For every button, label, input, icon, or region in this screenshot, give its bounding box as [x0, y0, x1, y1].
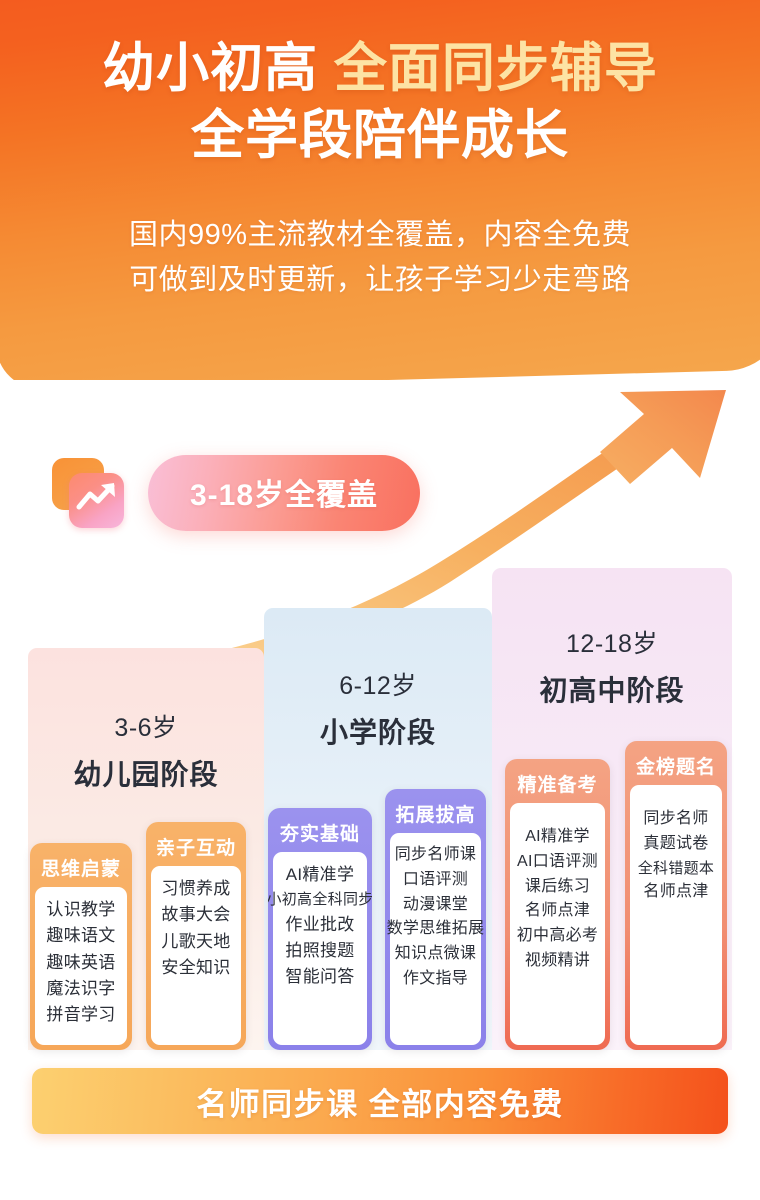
feature-card-5-list: AI精准学 AI口语评测 课后练习 名师点津 初中高必考 视频精讲 [510, 803, 605, 1045]
feature-card-4[interactable]: 拓展拔高 同步名师课 口语评测 动漫课堂 数学思维拓展 知识点微课 作文指导 [385, 789, 486, 1050]
stage-name-1: 幼儿园阶段 [28, 753, 264, 793]
list-item: 智能问答 [285, 964, 354, 990]
feature-card-2-title: 亲子互动 [146, 833, 246, 860]
list-item: 拼音学习 [46, 1002, 115, 1028]
list-item: 作文指导 [403, 967, 468, 992]
list-item: 魔法识字 [46, 976, 115, 1002]
feature-card-3[interactable]: 夯实基础 AI精准学 小初高全科同步 作业批改 拍照搜题 智能问答 [268, 808, 372, 1050]
feature-card-1[interactable]: 思维启蒙 认识教学 趣味语文 趣味英语 魔法识字 拼音学习 [30, 843, 132, 1050]
list-item: 拍照搜题 [285, 938, 354, 964]
footer-cta-banner[interactable]: 名师同步课 全部内容免费 [32, 1068, 728, 1134]
list-item: AI精准学 [525, 825, 590, 850]
promo-infographic: 幼小初高 全面同步辅导 全学段陪伴成长 国内99%主流教材全覆盖，内容全免费 可… [0, 0, 760, 1200]
feature-card-4-list: 同步名师课 口语评测 动漫课堂 数学思维拓展 知识点微课 作文指导 [390, 833, 481, 1045]
list-item: 知识点微课 [395, 942, 477, 967]
stage-age-1: 3-6岁 [28, 708, 264, 744]
feature-card-5-title: 精准备考 [505, 770, 610, 797]
stage-name-3: 初高中阶段 [492, 669, 732, 709]
feature-card-2-list: 习惯养成 故事大会 儿歌天地 安全知识 [151, 866, 241, 1045]
stage-label-2: 6-12岁 小学阶段 [264, 666, 492, 751]
list-item: 作业批改 [285, 912, 354, 938]
stage-age-3: 12-18岁 [492, 624, 732, 660]
feature-card-5[interactable]: 精准备考 AI精准学 AI口语评测 课后练习 名师点津 初中高必考 视频精讲 [505, 759, 610, 1050]
feature-card-4-title: 拓展拔高 [385, 800, 486, 827]
stage-columns: 3-6岁 幼儿园阶段 6-12岁 小学阶段 12-18岁 初高中阶段 思维启蒙 … [0, 0, 760, 1200]
feature-card-6[interactable]: 金榜题名 同步名师 真题试卷 全科错题本 名师点津 [625, 741, 727, 1050]
feature-card-3-title: 夯实基础 [268, 819, 372, 846]
feature-card-1-list: 认识教学 趣味语文 趣味英语 魔法识字 拼音学习 [35, 887, 127, 1045]
list-item: 故事大会 [161, 902, 230, 928]
feature-card-3-list: AI精准学 小初高全科同步 作业批改 拍照搜题 智能问答 [273, 852, 367, 1045]
list-item: 视频精讲 [525, 949, 590, 974]
list-item: 安全知识 [161, 955, 230, 981]
footer-cta-label: 名师同步课 全部内容免费 [196, 1079, 564, 1124]
list-item: 口语评测 [403, 868, 468, 893]
list-item: 动漫课堂 [403, 893, 468, 918]
list-item: 趣味语文 [46, 923, 115, 949]
stage-label-3: 12-18岁 初高中阶段 [492, 624, 732, 709]
list-item: 小初高全科同步 [268, 888, 372, 911]
list-item: 趣味英语 [46, 950, 115, 976]
list-item: AI口语评测 [517, 850, 598, 875]
list-item: 名师点津 [643, 880, 708, 905]
feature-card-6-title: 金榜题名 [625, 752, 727, 779]
list-item: 初中高必考 [517, 924, 599, 949]
feature-card-6-list: 同步名师 真题试卷 全科错题本 名师点津 [630, 785, 722, 1045]
feature-card-1-title: 思维启蒙 [30, 854, 132, 881]
stage-label-1: 3-6岁 幼儿园阶段 [28, 708, 264, 793]
list-item: 同步名师课 [395, 843, 477, 868]
list-item: 真题试卷 [643, 832, 708, 857]
list-item: 认识教学 [46, 897, 115, 923]
stage-age-2: 6-12岁 [264, 666, 492, 702]
list-item: 课后练习 [525, 875, 590, 900]
feature-card-2[interactable]: 亲子互动 习惯养成 故事大会 儿歌天地 安全知识 [146, 822, 246, 1050]
list-item: 儿歌天地 [161, 929, 230, 955]
list-item: 名师点津 [525, 899, 590, 924]
list-item: 全科错题本 [638, 857, 715, 880]
list-item: AI精准学 [286, 862, 355, 888]
list-item: 同步名师 [643, 807, 708, 832]
list-item: 数学思维拓展 [387, 917, 485, 942]
stage-name-2: 小学阶段 [264, 711, 492, 751]
list-item: 习惯养成 [161, 876, 230, 902]
